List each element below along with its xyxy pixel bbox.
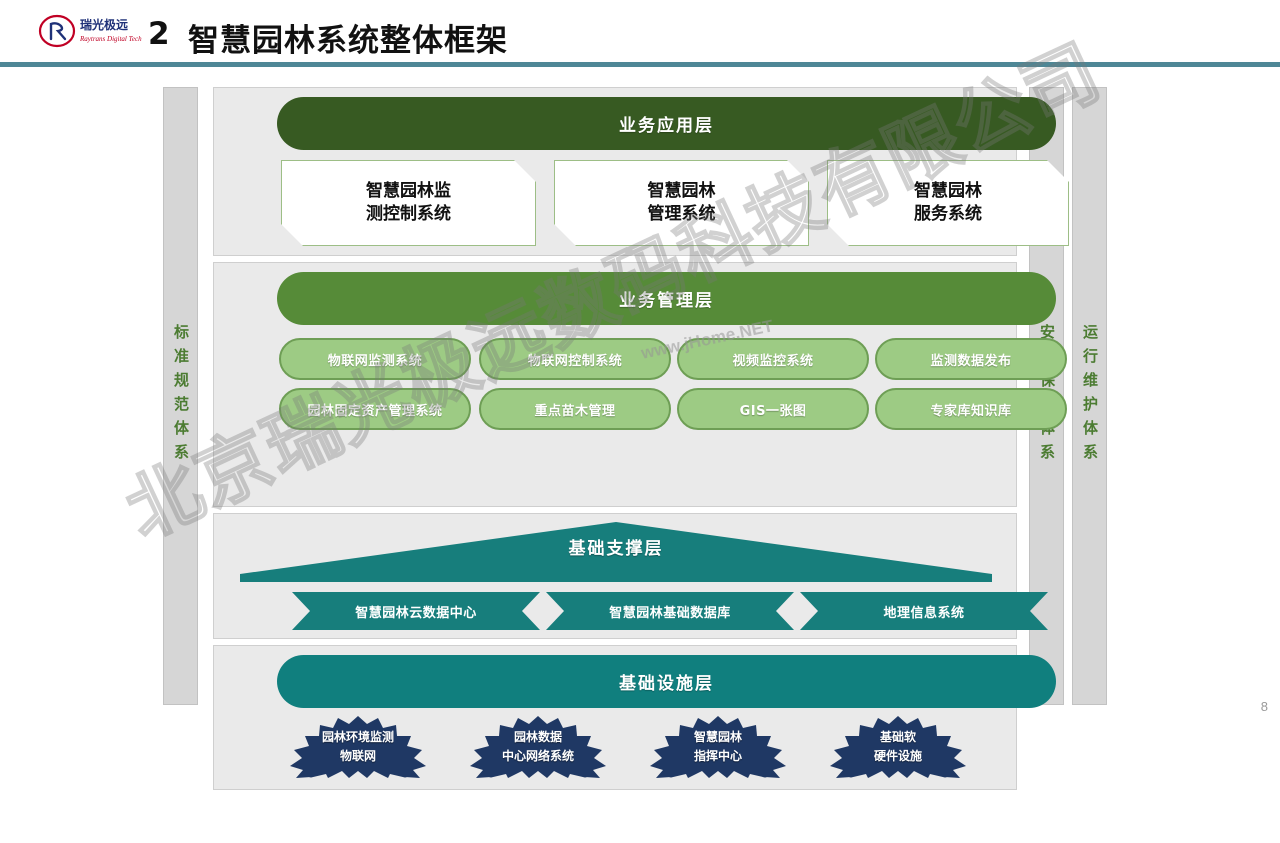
section-number: 2: [148, 16, 170, 52]
mgmt-pill-iot-monitor[interactable]: 物联网监测系统: [279, 338, 471, 380]
app-card-service-line1: 智慧园林: [914, 181, 982, 201]
header-divider: [0, 62, 1280, 67]
mgmt-pill-data-publish[interactable]: 监测数据发布: [875, 338, 1067, 380]
slide-header: 瑞光极远 Raytrans Digital Tech 2 智慧园林系统整体框架: [0, 0, 1280, 62]
pillar-operations: 运行维护体系: [1072, 87, 1107, 705]
support-item-base-database[interactable]: 智慧园林基础数据库: [546, 592, 794, 630]
mgmt-pill-iot-control[interactable]: 物联网控制系统: [479, 338, 671, 380]
layer-support-title: 基础支撑层: [240, 534, 992, 559]
app-card-service[interactable]: 智慧园林 服务系统: [827, 160, 1069, 246]
infra-node-0-line2: 物联网: [340, 747, 376, 766]
app-card-management-line1: 智慧园林: [648, 181, 716, 201]
infra-node-data-center-network-label: 园林数据 中心网络系统: [454, 716, 622, 778]
pillar-standards-label: 标准规范体系: [173, 324, 188, 468]
mgmt-pill-video-monitor[interactable]: 视频监控系统: [677, 338, 869, 380]
app-card-monitoring-line1: 智慧园林监: [366, 181, 451, 201]
infra-node-3-line2: 硬件设施: [874, 747, 922, 766]
app-card-management[interactable]: 智慧园林 管理系统: [554, 160, 809, 246]
layer-application: 业务应用层 智慧园林监 测控制系统 智慧园林 管理系统 智慧园林 服务系统: [213, 87, 1017, 256]
pillar-standards: 标准规范体系: [163, 87, 198, 705]
logo-mark-icon: 瑞光极远 Raytrans Digital Tech: [38, 12, 150, 50]
infra-node-command-center[interactable]: 智慧园林 指挥中心: [634, 716, 802, 778]
mgmt-pill-asset-management[interactable]: 园林固定资产管理系统: [279, 388, 471, 430]
infra-node-1-line1: 园林数据: [514, 728, 562, 747]
infra-node-hardware-software-label: 基础软 硬件设施: [814, 716, 982, 778]
app-card-management-line2: 管理系统: [648, 204, 716, 224]
svg-text:瑞光极远: 瑞光极远: [80, 17, 128, 32]
mgmt-pill-key-plants[interactable]: 重点苗木管理: [479, 388, 671, 430]
infra-node-env-monitor-iot[interactable]: 园林环境监测 物联网: [274, 716, 442, 778]
infra-node-command-center-label: 智慧园林 指挥中心: [634, 716, 802, 778]
layer-support: 基础支撑层 智慧园林云数据中心 智慧园林基础数据库 地理信息系统: [213, 513, 1017, 639]
infra-node-env-monitor-iot-label: 园林环境监测 物联网: [274, 716, 442, 778]
infra-node-2-line1: 智慧园林: [694, 728, 742, 747]
infra-node-2-line2: 指挥中心: [694, 747, 742, 766]
app-card-monitoring-line2: 测控制系统: [366, 204, 451, 224]
support-item-cloud-datacenter[interactable]: 智慧园林云数据中心: [292, 592, 540, 630]
company-logo: 瑞光极远 Raytrans Digital Tech: [38, 12, 150, 50]
layer-infrastructure-title: 基础设施层: [277, 655, 1056, 708]
pillar-operations-label: 运行维护体系: [1082, 324, 1097, 468]
app-card-service-line2: 服务系统: [914, 204, 982, 224]
infra-node-3-line1: 基础软: [880, 728, 916, 747]
infra-node-0-line1: 园林环境监测: [322, 728, 394, 747]
infra-node-hardware-software[interactable]: 基础软 硬件设施: [814, 716, 982, 778]
infra-node-1-line2: 中心网络系统: [502, 747, 574, 766]
layer-infrastructure: 基础设施层 园林环境监测 物联网 园林数据 中心网络系统: [213, 645, 1017, 790]
mgmt-pill-gis-map[interactable]: GIS一张图: [677, 388, 869, 430]
layer-management: 业务管理层 物联网监测系统 物联网控制系统 视频监控系统 监测数据发布 园林固定…: [213, 262, 1017, 507]
layer-management-title: 业务管理层: [277, 272, 1056, 325]
infra-node-data-center-network[interactable]: 园林数据 中心网络系统: [454, 716, 622, 778]
support-item-gis[interactable]: 地理信息系统: [800, 592, 1048, 630]
mgmt-pill-knowledge-base[interactable]: 专家库知识库: [875, 388, 1067, 430]
svg-text:Raytrans Digital Tech: Raytrans Digital Tech: [79, 35, 142, 43]
page-title: 智慧园林系统整体框架: [188, 15, 508, 60]
architecture-diagram: 标准规范体系 安全保障体系 运行维护体系 业务应用层 智慧园林监 测控制系统 智…: [163, 87, 1128, 705]
app-card-monitoring[interactable]: 智慧园林监 测控制系统: [281, 160, 536, 246]
page-number: 8: [1261, 699, 1268, 714]
layer-application-title: 业务应用层: [277, 97, 1056, 150]
